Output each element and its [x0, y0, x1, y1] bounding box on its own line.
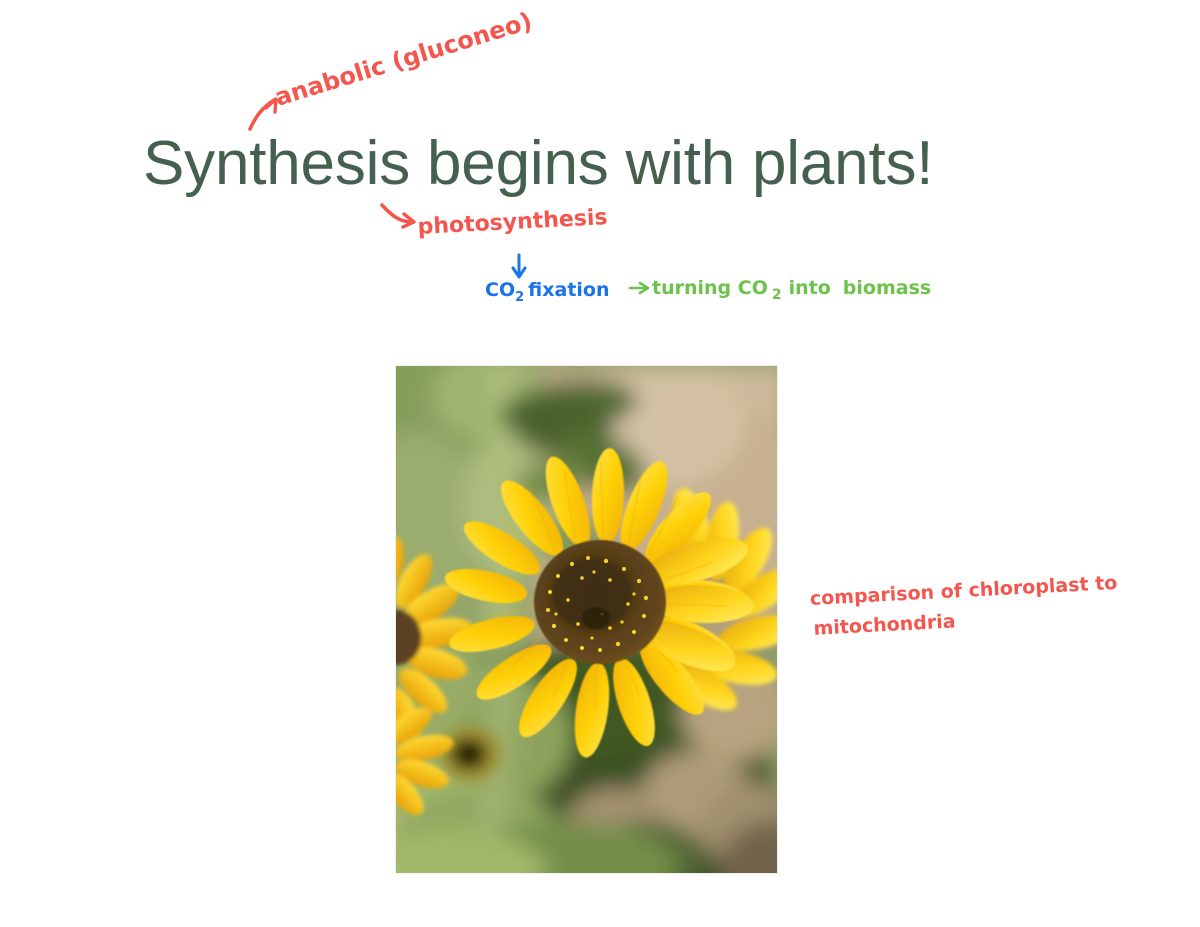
slide-canvas: Synthesis begins with plants! [0, 0, 1200, 927]
down-arrow-head [513, 268, 525, 277]
annotation-comparison-line1: comparison of chloroplast to [809, 572, 1117, 610]
annotation-co2-fixation-text: CO2fixation [485, 279, 610, 305]
annotation-anabolic: anabolic (gluconeo) [250, 7, 535, 129]
annotation-down-arrow [513, 255, 525, 277]
page-title: Synthesis begins with plants! [143, 131, 1083, 196]
photosynthesis-arrow-head [403, 214, 414, 227]
sunflower-photo[interactable] [396, 366, 777, 873]
anabolic-arrow-head [266, 99, 276, 112]
annotation-photosynthesis: photosynthesis [382, 205, 608, 240]
annotation-comparison-line2: mitochondria [813, 610, 956, 639]
photosynthesis-arrow-shaft [382, 205, 412, 222]
annotation-co2-fixation: CO2fixation [485, 279, 648, 305]
anabolic-arrow-shaft [250, 100, 274, 129]
annotation-comparison: comparison of chloroplast to mitochondri… [809, 572, 1119, 640]
annotation-anabolic-text: anabolic (gluconeo) [272, 7, 536, 112]
annotation-biomass: turning CO2intobiomass [652, 277, 931, 303]
annotation-photosynthesis-text: photosynthesis [417, 205, 608, 240]
annotation-biomass-text: turning CO2intobiomass [652, 277, 931, 303]
right-arrow-head [640, 283, 648, 293]
